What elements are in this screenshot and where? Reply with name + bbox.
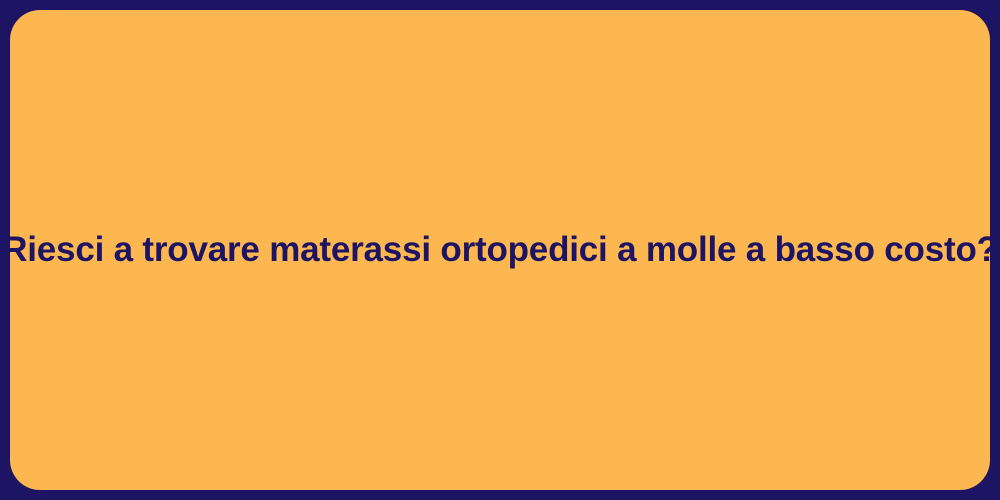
card-panel: Riesci a trovare materassi ortopedici a … — [10, 10, 990, 490]
card-frame: Riesci a trovare materassi ortopedici a … — [0, 0, 1000, 500]
page-title: Riesci a trovare materassi ortopedici a … — [2, 228, 998, 272]
